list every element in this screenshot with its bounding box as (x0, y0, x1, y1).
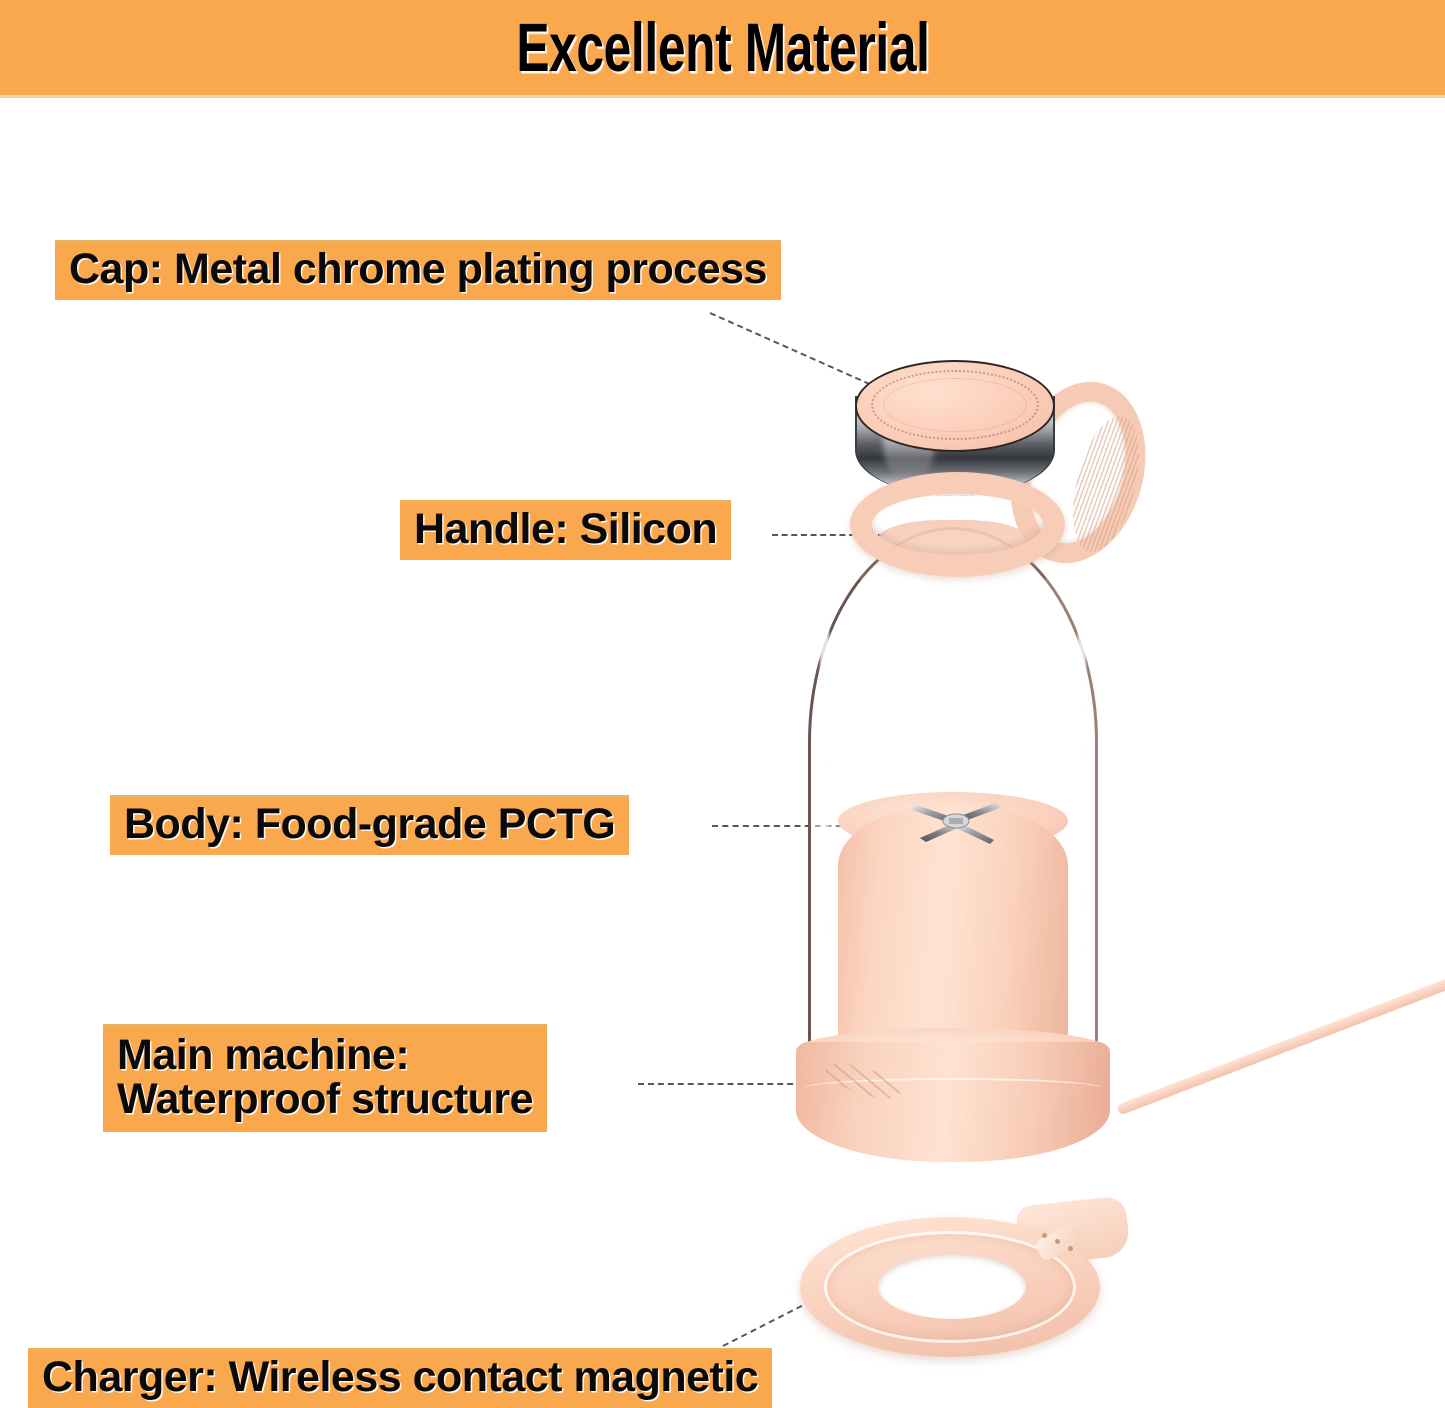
charger-ring-hole (878, 1253, 1026, 1319)
callout-label-cap: Cap: Metal chrome plating process (55, 240, 781, 300)
charging-cable (1116, 976, 1445, 1115)
cap-embossed-text-ring-inner (883, 378, 1027, 432)
page-title: Excellent Material (516, 8, 929, 87)
callout-label-charger: Charger: Wireless contact magnetic (28, 1348, 772, 1408)
bottle-highlight-right (1078, 567, 1086, 1047)
motor-base-waterproof (796, 1042, 1110, 1162)
callout-label-charger-text: Charger: Wireless contact magnetic (42, 1356, 758, 1400)
cap-assembly (845, 352, 1095, 582)
product-charger-illustration (800, 1195, 1220, 1365)
callout-label-handle-text: Handle: Silicon (414, 508, 717, 552)
callout-label-handle: Handle: Silicon (400, 500, 731, 560)
callout-label-main-machine: Main machine: Waterproof structure (103, 1024, 547, 1132)
header-banner: Excellent Material (0, 0, 1445, 98)
callout-label-body: Body: Food-grade PCTG (110, 795, 629, 855)
callout-label-body-text: Body: Food-grade PCTG (124, 803, 615, 847)
silicone-handle-ring (850, 472, 1065, 577)
callout-label-main-machine-line2: Waterproof structure (117, 1078, 533, 1122)
charger-contact-pin (1055, 1239, 1060, 1244)
callout-label-main-machine-line1: Main machine: (117, 1034, 533, 1078)
blade-icon (910, 796, 1002, 846)
bottle-highlight-left (820, 552, 829, 1052)
charger-contact-pin (1042, 1233, 1047, 1238)
callout-label-cap-text: Cap: Metal chrome plating process (69, 248, 767, 292)
charger-contact-pin (1068, 1246, 1073, 1251)
product-blender-illustration (790, 352, 1140, 1162)
